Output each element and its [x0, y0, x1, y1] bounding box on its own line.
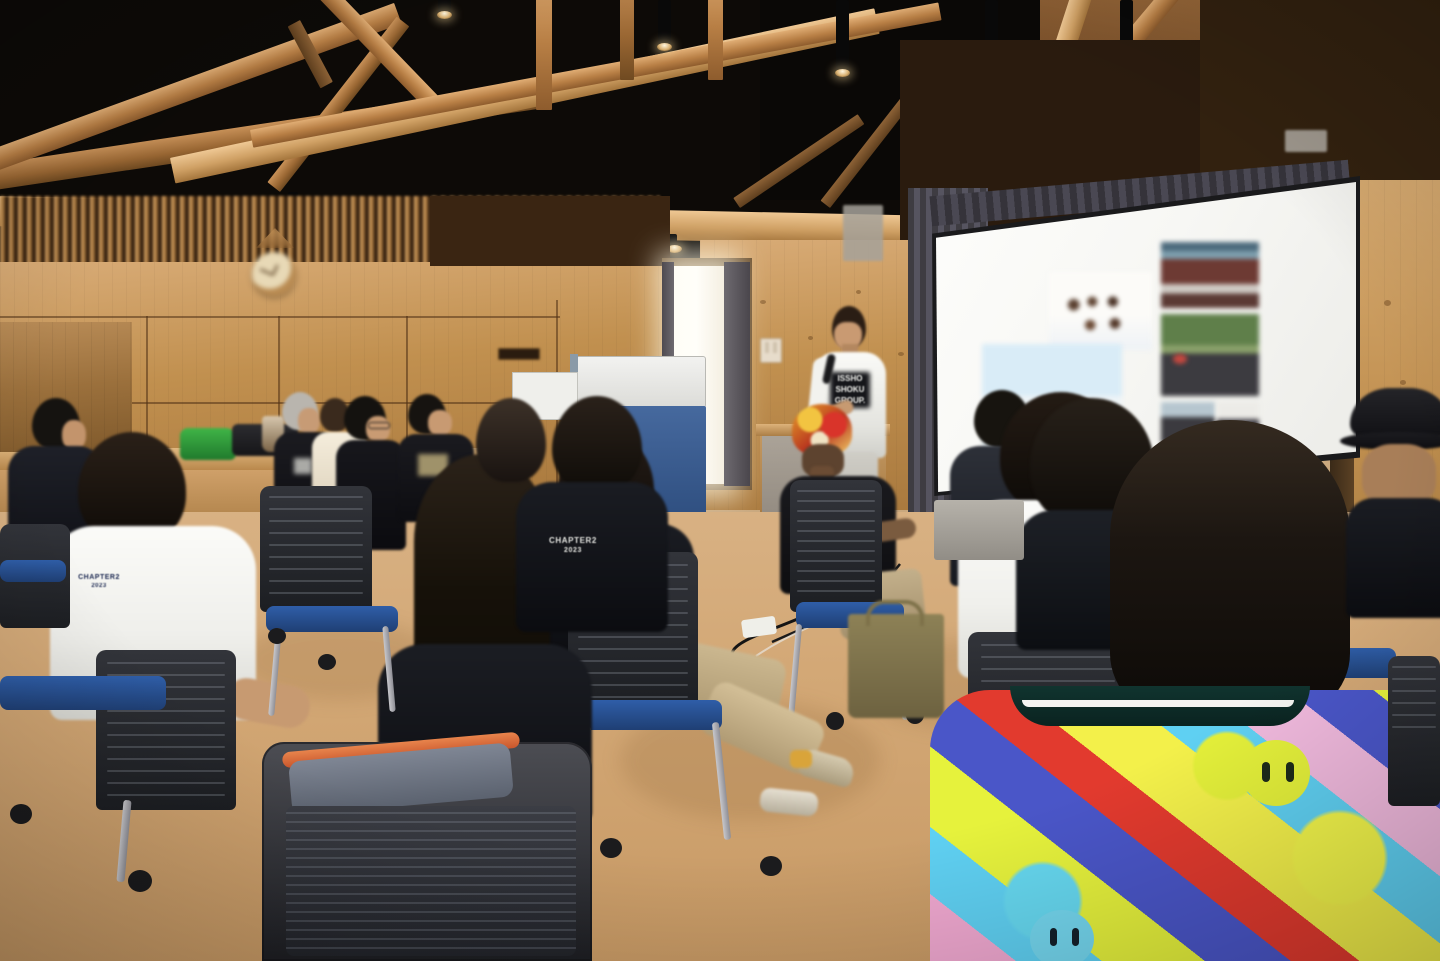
chair-caster	[318, 654, 336, 670]
chair-caster	[760, 856, 782, 876]
glasses-icon	[368, 422, 390, 429]
chair-back-far-left[interactable]	[260, 486, 372, 612]
wall-outlet[interactable]	[760, 338, 782, 363]
chair-seat-front-left[interactable]	[0, 676, 166, 710]
chair-caster	[600, 838, 622, 858]
center-shirt-line1: CHAPTER2	[536, 536, 610, 545]
jacket-smiley-icon	[1242, 740, 1310, 806]
front-left-shirt-line1: CHAPTER2	[64, 574, 134, 582]
attendee-midrow-head	[476, 398, 546, 482]
wall-slats-upper-right	[430, 196, 670, 266]
sock	[790, 750, 812, 768]
chair-seat-far-left[interactable]	[266, 606, 398, 632]
pendant-spot-2	[658, 0, 671, 46]
acoustic-panel-2	[1285, 130, 1327, 152]
chair-seat-far-left-2[interactable]	[0, 560, 66, 582]
chair-caster	[268, 628, 286, 644]
pendant-spot-3	[836, 0, 849, 72]
slide-photo-family	[1049, 272, 1152, 350]
gray-board-right	[934, 500, 1024, 560]
tote-handle	[866, 600, 924, 626]
chair-back-bandana[interactable]	[790, 480, 882, 612]
pendant-spot-1	[438, 0, 451, 14]
attendee-black-hat	[1340, 388, 1440, 618]
front-left-shirt-line2: 2023	[64, 583, 134, 590]
slide-photo-hall-crowd	[1161, 242, 1259, 308]
wall-slats-far-right	[1200, 0, 1440, 180]
acoustic-panel	[843, 205, 883, 261]
chair-back-foreground-vents	[286, 806, 576, 956]
chair-caster	[826, 712, 844, 730]
chair-caster	[10, 804, 32, 824]
colorful-print-jacket	[930, 690, 1440, 961]
slide-photo-outdoor-team-hat	[1173, 354, 1187, 364]
wall-plaque-sign-2	[498, 348, 540, 360]
chair-caster	[128, 870, 152, 892]
jacket-smiley-icon-2	[1030, 910, 1094, 961]
foreground-bob-hair	[1110, 420, 1350, 720]
wall-clock	[252, 252, 296, 296]
presenter-shirt-line2: SHOKU	[830, 385, 870, 394]
jacket-collar-stripe	[1022, 700, 1294, 707]
chair-back-front-left[interactable]	[96, 650, 236, 810]
chair-back-far-right[interactable]	[1388, 656, 1440, 806]
presenter-shirt-line1: ISSHO	[830, 374, 870, 383]
olive-tote-bag	[848, 614, 944, 718]
center-shirt-line2: 2023	[536, 547, 610, 555]
photo-scene: ISSHO SHOKU GROUP.	[0, 0, 1440, 961]
